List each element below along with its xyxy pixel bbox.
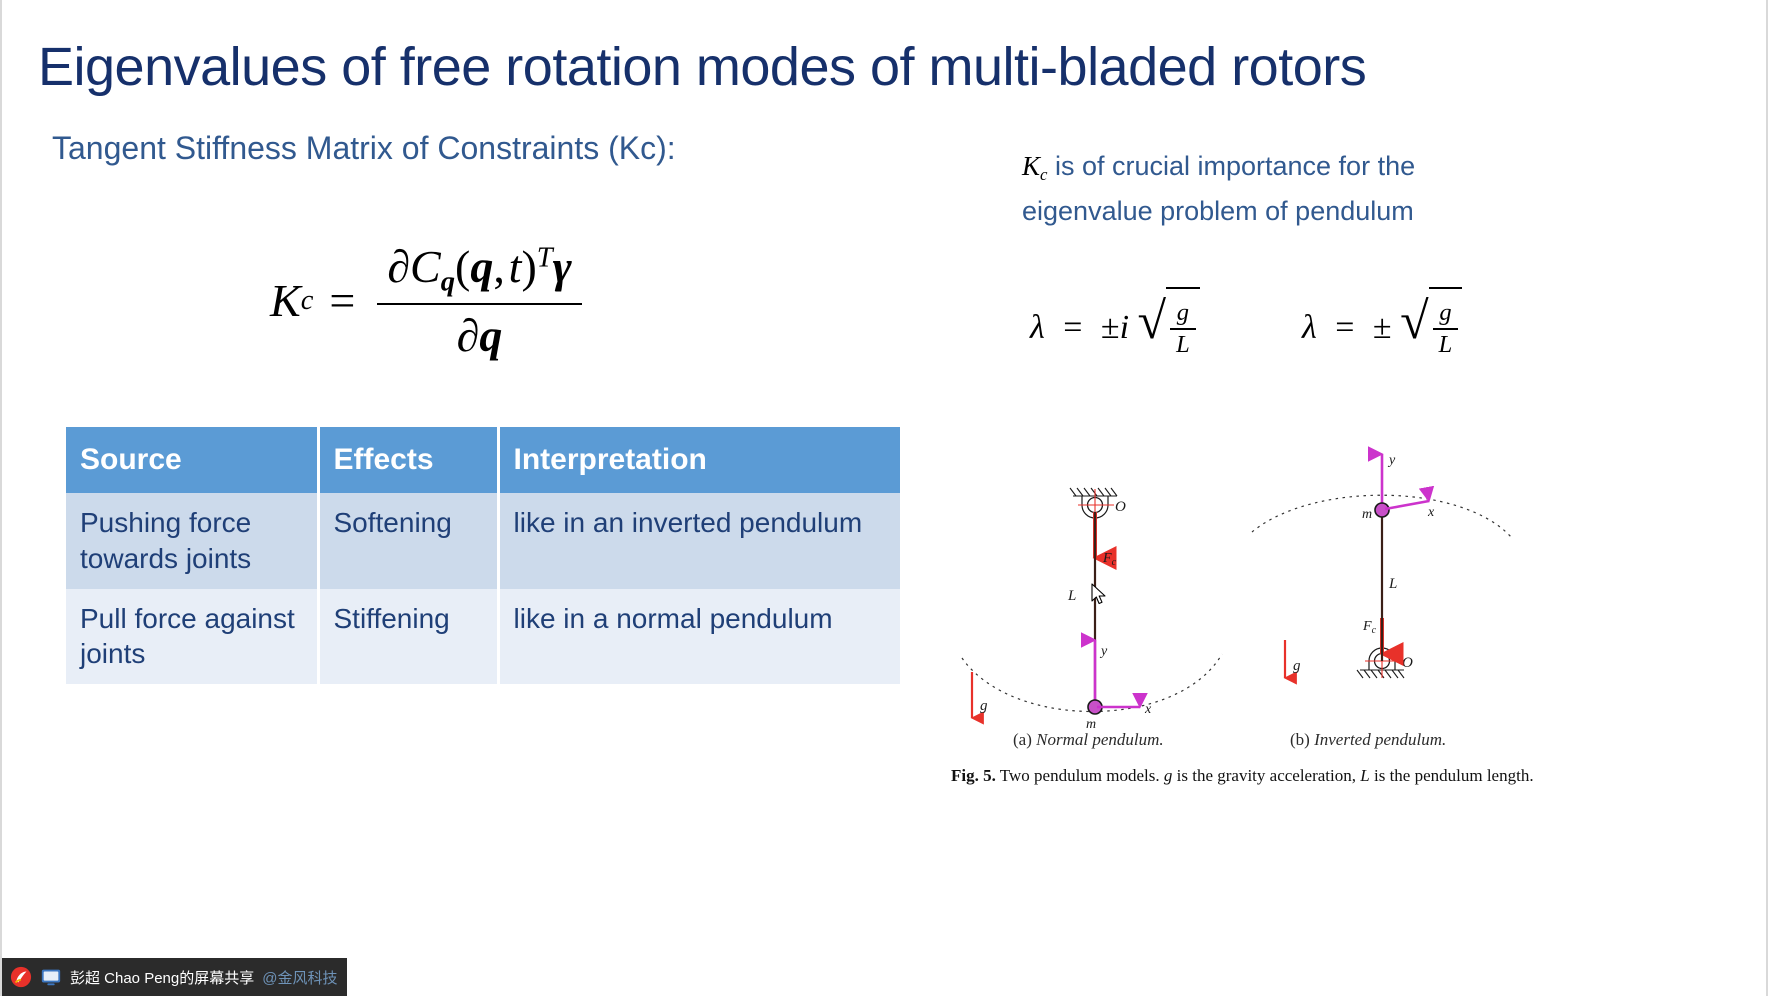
label-axis-y: y: [1099, 644, 1108, 659]
label-axis-y-inverted: y: [1387, 453, 1396, 468]
label-pivot-O-inverted: O: [1402, 655, 1413, 671]
axis-x-arrow-inverted: [1385, 501, 1429, 509]
formula-C-subscript: q: [441, 267, 455, 298]
g-over-L-fraction: g L: [1170, 299, 1196, 359]
floor-hatch-icon: [1357, 670, 1404, 678]
cell-effects: Softening: [318, 493, 498, 589]
formula-comma: ,: [493, 241, 505, 292]
page-title: Eigenvalues of free rotation modes of mu…: [38, 36, 1698, 98]
formula-numerator: ∂Cq(q, t)Tγ: [377, 240, 581, 303]
figure-caption-a-tag: (a): [1013, 730, 1032, 749]
formula-equals: =: [329, 274, 355, 327]
formula-gamma: γ: [553, 241, 572, 292]
formula-C: C: [410, 241, 441, 292]
mouse-cursor-icon: [1091, 583, 1109, 607]
length-symbol: L: [1170, 330, 1196, 359]
eigenvalue-equation-imaginary: λ = ±i √ g L: [1030, 285, 1200, 359]
cell-source: Pull force against joints: [66, 589, 318, 685]
table-header-source: Source: [66, 427, 318, 493]
organization-label: @金风科技: [262, 967, 337, 988]
pendulum-figure-svg: O Fc L y m x g: [942, 440, 1562, 810]
formula-denominator: ∂q: [447, 305, 513, 362]
pendulum-figure: O Fc L y m x g: [942, 440, 1562, 810]
figure-main-caption: Fig. 5. Two pendulum models. g is the gr…: [951, 766, 1534, 786]
ceiling-hatch-icon: [1070, 488, 1117, 496]
figure-caption-part3: is the pendulum length.: [1370, 766, 1534, 785]
figure-caption-L: L: [1360, 766, 1369, 785]
gravity-symbol: g: [1433, 299, 1457, 328]
screen-share-icon[interactable]: [40, 966, 62, 988]
sqrt-expression: √ g L: [1138, 285, 1200, 359]
equals-sign: =: [1063, 309, 1082, 346]
figure-caption-part2: is the gravity acceleration,: [1172, 766, 1360, 785]
label-axis-x: x: [1144, 702, 1152, 717]
formula-q-den: q: [479, 310, 502, 361]
formula-fraction: ∂Cq(q, t)Tγ ∂q: [377, 240, 581, 362]
gravity-symbol: g: [1171, 299, 1195, 328]
figure-caption-a-text: Normal pendulum.: [1036, 730, 1164, 749]
label-gravity-g-inverted: g: [1293, 658, 1301, 674]
figure-label: Fig. 5.: [951, 766, 996, 785]
table-row: Pull force against joints Stiffening lik…: [66, 589, 900, 685]
label-gravity-g: g: [980, 698, 988, 714]
formula-q-vector: q: [470, 241, 493, 292]
table-header-row: Source Effects Interpretation: [66, 427, 900, 493]
normal-pendulum-diagram: O Fc L y m x g: [962, 488, 1222, 732]
formula-open-paren: (: [455, 241, 470, 292]
eigenvalue-equation-real: λ = ± √ g L: [1302, 285, 1462, 359]
cell-interpretation: like in a normal pendulum: [498, 589, 900, 685]
radical-icon: √: [1138, 285, 1167, 359]
label-force-fc: Fc: [1102, 551, 1117, 568]
kc-importance-note: Kc is of crucial importance for the eige…: [1022, 148, 1542, 230]
label-axis-x-inverted: x: [1427, 505, 1435, 520]
kc-symbol: K: [1022, 151, 1040, 181]
plus-minus-icon: ±: [1373, 309, 1392, 346]
inverted-pendulum-diagram: O Fc L y m x g: [1252, 453, 1512, 678]
slide-canvas: Eigenvalues of free rotation modes of mu…: [0, 0, 1768, 996]
formula-lhs-subscript: c: [301, 285, 314, 317]
cell-source: Pushing force towards joints: [66, 493, 318, 589]
sqrt-radicand: g L: [1429, 287, 1463, 359]
screen-share-label: 彭超 Chao Peng的屏幕共享: [70, 967, 254, 988]
sqrt-radicand: g L: [1166, 287, 1200, 359]
equals-sign: =: [1335, 309, 1354, 346]
figure-caption-b-text: Inverted pendulum.: [1314, 730, 1446, 749]
table-row: Pushing force towards joints Softening l…: [66, 493, 900, 589]
label-length-L: L: [1067, 588, 1076, 604]
g-over-L-fraction: g L: [1433, 299, 1459, 359]
radical-icon: √: [1400, 285, 1429, 359]
formula-lhs-symbol: K: [270, 274, 301, 327]
plus-minus-icon: ±: [1101, 309, 1120, 346]
length-symbol: L: [1433, 330, 1459, 359]
figure-caption-b-tag: (b): [1290, 730, 1310, 749]
table-header-effects: Effects: [318, 427, 498, 493]
table-header-interpretation: Interpretation: [498, 427, 900, 493]
label-force-fc-inverted: Fc: [1362, 619, 1377, 636]
formula-transpose: T: [537, 242, 553, 273]
label-length-L-inverted: L: [1388, 576, 1397, 592]
tangent-stiffness-formula: Kc = ∂Cq(q, t)Tγ ∂q: [270, 240, 588, 362]
mass-marker-inverted: [1375, 503, 1389, 517]
sqrt-expression: √ g L: [1400, 285, 1462, 359]
formula-close-paren: ): [521, 241, 536, 292]
figure-caption-b: (b) Inverted pendulum.: [1290, 730, 1446, 750]
effects-table: Source Effects Interpretation Pushing fo…: [66, 427, 900, 684]
label-pivot-O: O: [1115, 499, 1126, 515]
cell-interpretation: like in an inverted pendulum: [498, 493, 900, 589]
section-subtitle: Tangent Stiffness Matrix of Constraints …: [52, 130, 676, 167]
lambda-symbol: λ: [1030, 309, 1045, 346]
screen-share-taskbar[interactable]: 彭超 Chao Peng的屏幕共享 @金风科技: [2, 958, 347, 996]
kc-note-text: is of crucial importance for the eigenva…: [1022, 151, 1415, 226]
lambda-symbol: λ: [1302, 309, 1317, 346]
cell-effects: Stiffening: [318, 589, 498, 685]
partial-icon: ∂: [387, 241, 410, 292]
partial-icon-den: ∂: [457, 310, 480, 361]
figure-caption-a: (a) Normal pendulum.: [1013, 730, 1164, 750]
app-logo-icon: [10, 966, 32, 988]
label-mass-m-inverted: m: [1362, 507, 1372, 522]
imaginary-unit: i: [1120, 309, 1129, 346]
formula-t: t: [509, 241, 522, 292]
figure-caption-part1: Two pendulum models.: [996, 766, 1164, 785]
